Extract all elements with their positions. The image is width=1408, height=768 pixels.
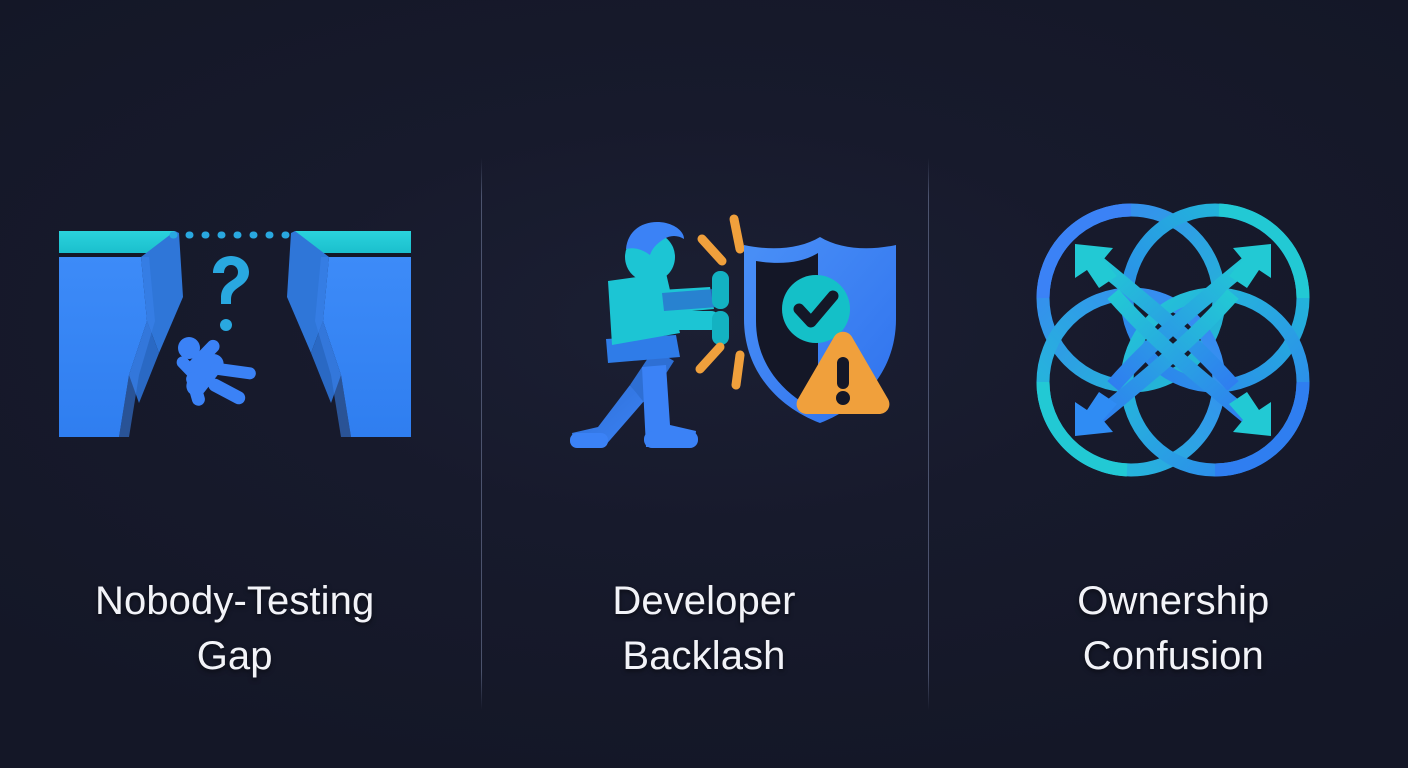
falling-person-icon	[174, 337, 256, 407]
spark-down	[736, 355, 740, 385]
divider-2	[928, 158, 929, 710]
panel-caption: Ownership Confusion	[967, 574, 1380, 684]
right-cliff	[287, 231, 411, 437]
left-cliff-face	[59, 257, 147, 437]
person-hand-lower	[712, 311, 729, 345]
tangled-circles-svg	[1023, 190, 1323, 490]
person-back-shoe	[570, 433, 608, 448]
panel-caption: Developer Backlash	[497, 574, 910, 684]
spark-down-left	[700, 347, 720, 369]
right-cliff-face	[323, 257, 411, 437]
panel-developer-backlash: Developer Backlash	[469, 0, 938, 768]
divider-1	[481, 158, 482, 710]
spark-up-left	[702, 239, 722, 261]
panel-nobody-testing-gap: Nobody-Testing Gap	[0, 0, 469, 768]
warning-exclaim-bar	[837, 357, 849, 389]
spark-up	[734, 219, 740, 249]
person-forearm-lower	[642, 311, 720, 330]
cliff-gap-svg	[55, 225, 415, 455]
person-pushing-shield-icon	[469, 130, 938, 550]
pushing-person	[570, 222, 729, 448]
infographic-board: Nobody-Testing Gap	[0, 0, 1408, 768]
cliff-gap-falling-person-icon	[0, 130, 469, 550]
question-mark-icon	[213, 256, 249, 331]
tangled-circles-arrows-icon	[939, 130, 1408, 550]
left-cliff	[59, 231, 183, 437]
panel-ownership-confusion: Ownership Confusion	[939, 0, 1408, 768]
person-front-shoe	[644, 431, 698, 448]
person-hand-upper	[712, 271, 729, 309]
warning-exclaim-dot	[836, 391, 850, 405]
push-shield-svg	[534, 215, 874, 465]
panel-caption: Nobody-Testing Gap	[28, 574, 441, 684]
